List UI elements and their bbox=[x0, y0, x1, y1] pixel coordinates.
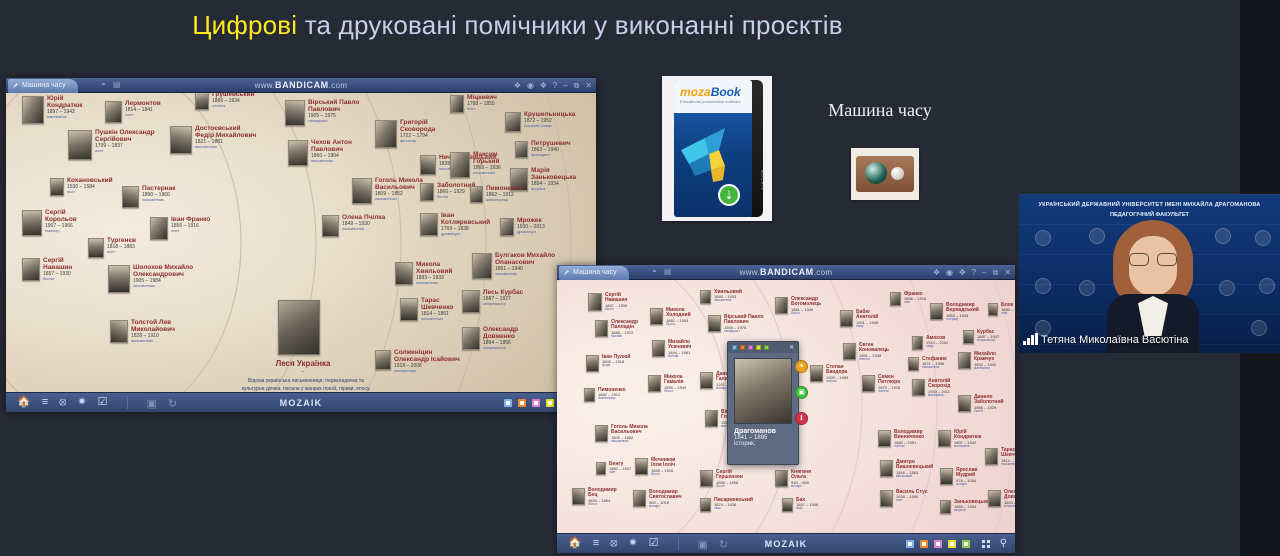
person-card[interactable]: Мрожек1930 – 2013драматург bbox=[500, 218, 545, 236]
person-occupation: поет bbox=[1001, 312, 1015, 315]
seal-icon bbox=[1219, 280, 1235, 296]
person-card[interactable]: СтепанБандера1909 – 1959політик bbox=[810, 365, 848, 383]
color-swatch[interactable] bbox=[962, 540, 970, 548]
person-occupation: хімік bbox=[796, 507, 818, 510]
close-icon[interactable]: ✕ bbox=[789, 345, 794, 351]
person-photo bbox=[985, 448, 998, 465]
camera-icon[interactable]: ◉ bbox=[527, 82, 534, 90]
person-photo bbox=[288, 140, 308, 166]
window2-titlebar[interactable]: Машина часу ◓ ▤ www.BANDICAM.com ❖ ◉ ✥ ?… bbox=[557, 265, 1015, 280]
mozabook-logo: mozaBook bbox=[680, 85, 741, 99]
person-name: ОлександрБогомолець bbox=[791, 297, 821, 308]
color-swatch[interactable] bbox=[518, 399, 526, 407]
time-machine-icon-knob bbox=[891, 167, 904, 180]
person-occupation: біолог bbox=[588, 503, 617, 506]
person-photo bbox=[912, 336, 923, 350]
image-icon[interactable]: ▣ bbox=[795, 386, 808, 399]
person-info: Кохановський1530 – 1584поет bbox=[67, 178, 113, 194]
person-occupation: математик bbox=[974, 367, 996, 370]
person-card[interactable]: СергійНавашин1857 – 1930біолог bbox=[22, 258, 72, 281]
person-info: ОлександрДовженко1894 – 1956кінорежисер bbox=[483, 327, 518, 350]
person-occupation: письменник bbox=[311, 159, 352, 163]
person-info: Вірський ПавлоПавлович1905 – 1975танцюри… bbox=[308, 100, 359, 123]
person-occupation: танцюрист bbox=[724, 330, 764, 333]
person-info: Франко1856 – 1916поет bbox=[904, 292, 926, 305]
person-card[interactable]: Хвильовий1893 – 1933письменник bbox=[700, 290, 742, 304]
person-info: Грушевський1866 – 1934політик bbox=[212, 93, 255, 108]
mozabook-box-image: mozaBook Educational presentation softwa… bbox=[662, 76, 772, 221]
person-occupation: актриса bbox=[954, 509, 989, 512]
person-info: СеменПетлюра1879 – 1926політик bbox=[878, 375, 900, 393]
window2-title-buttons[interactable]: ❖ ◉ ✥ ? – ⧉ ✕ bbox=[933, 265, 1011, 280]
person-card[interactable]: ГригорійСковорода1722 – 1794філософ bbox=[375, 120, 435, 148]
person-card[interactable]: Амосов1913 – 2002лікар bbox=[912, 336, 948, 350]
person-info: Іван Франко1856 – 1916поет bbox=[171, 217, 210, 233]
person-occupation: кінорежисер bbox=[1004, 505, 1015, 508]
person-name: ОлександрДовженко bbox=[1004, 490, 1015, 501]
minimize-icon[interactable]: – bbox=[982, 269, 986, 277]
pen-icon[interactable]: ✥ bbox=[540, 82, 547, 90]
person-photo bbox=[122, 186, 139, 208]
person-photo bbox=[170, 126, 192, 154]
person-photo bbox=[880, 490, 893, 507]
person-card[interactable]: ВолодимирВернадський1863 – 1945географ bbox=[930, 303, 979, 321]
person-card[interactable]: МиколаХолодний1882 – 1953біолог bbox=[650, 308, 691, 326]
color-swatch[interactable] bbox=[546, 399, 554, 407]
person-occupation: письменник bbox=[421, 317, 453, 321]
camera-icon[interactable]: ◉ bbox=[946, 269, 953, 277]
person-card[interactable]: Вірський ПавлоПавлович1905 – 1975танцюри… bbox=[708, 315, 764, 333]
person-photo bbox=[450, 152, 470, 178]
person-occupation: кінорежисер bbox=[483, 346, 518, 350]
person-occupation: актриса bbox=[531, 187, 576, 191]
person-card[interactable]: Петрушевич1863 – 1940президент bbox=[515, 141, 571, 158]
person-photo bbox=[708, 315, 721, 332]
selected-card-header[interactable]: ✕ bbox=[728, 342, 798, 353]
person-card[interactable]: ОлександрДовженко1894 – 1956кінорежисер bbox=[462, 327, 518, 350]
person-info: МихайлоКравчук1892 – 1942математик bbox=[974, 352, 996, 370]
person-photo bbox=[652, 340, 665, 357]
person-occupation: поет bbox=[904, 301, 926, 304]
person-occupation: оперний співак bbox=[524, 124, 575, 128]
person-name: ЮрійКондратюк bbox=[954, 430, 981, 441]
person-name: ІванКотляревський bbox=[441, 213, 490, 227]
person-photo bbox=[648, 375, 661, 392]
person-name: ЄвгенКоновалець bbox=[859, 343, 889, 354]
window2-toolbar-swatches[interactable]: ⚲ bbox=[906, 538, 1007, 549]
person-card[interactable]: Пушкін ОлександрСергійович1799 – 1837пое… bbox=[68, 130, 155, 160]
person-photo bbox=[586, 355, 599, 372]
person-info: Крушельницька1872 – 1952оперний співак bbox=[524, 112, 575, 128]
person-card[interactable]: Толстой ЛевМиколайович1828 – 1910письмен… bbox=[110, 320, 175, 343]
person-card[interactable]: Вірський ПавлоПавлович1905 – 1975танцюри… bbox=[285, 100, 359, 126]
person-photo bbox=[150, 217, 168, 240]
pen-icon[interactable]: ✥ bbox=[959, 269, 966, 277]
person-occupation: письменник bbox=[131, 339, 175, 343]
person-info: БабюАнатолій1901 – 1949лікар bbox=[856, 310, 878, 328]
person-info: МиколаХвильовий1893 – 1933письменник bbox=[416, 262, 452, 285]
person-card[interactable]: СергійКорольов1907 – 1966інженер bbox=[22, 210, 77, 236]
person-occupation: поет bbox=[67, 190, 113, 194]
person-card[interactable]: Курбас1887 – 1937кінорежисер bbox=[963, 330, 999, 344]
person-card[interactable]: Іван Франко1856 – 1916поет bbox=[150, 217, 210, 240]
person-photo bbox=[596, 462, 606, 475]
person-photo bbox=[700, 372, 713, 389]
person-card[interactable]: ОлександрБогомолець1881 – 1946біолог bbox=[775, 297, 821, 315]
info-icon[interactable]: ℹ bbox=[795, 412, 808, 425]
person-card[interactable]: Гоголь МиколаВасильович1809 – 1852письме… bbox=[352, 178, 423, 204]
color-swatch[interactable] bbox=[920, 540, 928, 548]
lesya-ukrainka-description: Відома українська письменниця, переклада… bbox=[236, 378, 376, 392]
person-name: ДостоєвськийФедір Михайлович bbox=[195, 126, 256, 140]
person-photo bbox=[782, 498, 793, 512]
person-name: Булгаков МихайлоОпанасович bbox=[495, 253, 555, 267]
person-photo bbox=[988, 303, 998, 316]
person-photo bbox=[810, 365, 823, 382]
person-info: Мрожек1930 – 2013драматург bbox=[517, 218, 545, 234]
person-card[interactable]: Пимоненко1862 – 1912живописець bbox=[470, 186, 522, 203]
person-photo bbox=[375, 350, 391, 370]
color-swatch[interactable] bbox=[906, 540, 914, 548]
person-photo bbox=[890, 292, 901, 306]
person-info: Пастернак1890 – 1960письменник bbox=[142, 186, 175, 202]
color-swatch[interactable] bbox=[748, 345, 753, 350]
person-photo bbox=[930, 303, 943, 320]
person-occupation: монарх bbox=[956, 483, 977, 486]
person-card[interactable]: Блок1880 – 1921поет bbox=[988, 303, 1015, 316]
person-card[interactable]: ІванКотляревський1769 – 1838драматург bbox=[420, 213, 490, 236]
person-name: Вірський ПавлоПавлович bbox=[724, 315, 764, 326]
person-card[interactable]: АнатолійСкорохід1930 – 2011математик bbox=[912, 379, 950, 397]
person-info: Хвильовий1893 – 1933письменник bbox=[714, 290, 742, 303]
person-name: СергійКорольов bbox=[45, 210, 77, 224]
color-swatch[interactable] bbox=[934, 540, 942, 548]
person-card[interactable]: ЄвгенКоновалець1891 – 1938політик bbox=[843, 343, 889, 361]
time-machine-icon-lens bbox=[865, 162, 887, 184]
person-info: МечниковІлля Ілліч1845 – 1916біолог bbox=[651, 458, 675, 476]
person-card[interactable]: Міцкевич1798 – 1855поет bbox=[450, 95, 497, 113]
person-info: МихайлоУсачович1894 – 1981вчений bbox=[668, 340, 691, 358]
person-photo bbox=[352, 178, 372, 204]
person-card[interactable]: СолженіцинОлександр Ісайович1918 – 2008п… bbox=[375, 350, 460, 373]
person-photo bbox=[705, 410, 718, 427]
person-info: Блок1880 – 1921поет bbox=[1001, 303, 1015, 316]
color-swatch[interactable] bbox=[532, 399, 540, 407]
person-occupation: біолог bbox=[651, 473, 675, 476]
person-info: Пушкін ОлександрСергійович1799 – 1837пое… bbox=[95, 130, 155, 153]
seal-icon bbox=[1251, 320, 1267, 336]
person-name: АнатолійСкорохід bbox=[928, 379, 950, 390]
person-name: МечниковІлля Ілліч bbox=[651, 458, 675, 469]
window1-title-buttons[interactable]: ❖ ◉ ✥ ? – ⧉ ✕ bbox=[514, 78, 592, 93]
page-title: Цифрові та друковані помічники у виконан… bbox=[0, 4, 1035, 46]
person-name: СолженіцинОлександр Ісайович bbox=[394, 350, 460, 364]
window1-titlebar[interactable]: Машина часу ◓ ▤ www.BANDICAM.com ❖ ◉ ✥ ?… bbox=[6, 78, 596, 93]
person-card[interactable]: ОлександрДовженко1894 – 1956кінорежисер bbox=[988, 490, 1015, 508]
color-swatch[interactable] bbox=[740, 345, 745, 350]
person-card[interactable]: Бенгу1882 – 1937поет bbox=[596, 462, 631, 475]
restore-icon[interactable]: ⧉ bbox=[993, 269, 999, 277]
seal-icon bbox=[1035, 278, 1051, 294]
seal-icon bbox=[1089, 228, 1105, 244]
help-icon[interactable]: ? bbox=[553, 82, 557, 90]
person-name: МихайлоКравчук bbox=[974, 352, 996, 363]
window2-toolbar[interactable]: 🏠 ≡ ⦻ ✷ ☑ ▣ ↻ MOZAIK ⚲ bbox=[557, 533, 1015, 553]
person-name: ЮрійКондратюк bbox=[47, 96, 83, 110]
person-card[interactable]: ЯрославМудрий978 – 1054монарх bbox=[940, 468, 977, 486]
time-machine-window-1[interactable]: Машина часу ◓ ▤ www.BANDICAM.com ❖ ◉ ✥ ?… bbox=[6, 78, 596, 412]
person-info: Петрушевич1863 – 1940президент bbox=[531, 141, 571, 157]
person-name: ОлександрДовженко bbox=[483, 327, 518, 341]
person-photo bbox=[572, 488, 585, 505]
person-info: СтепанБандера1909 – 1959політик bbox=[826, 365, 848, 383]
title-highlight: Цифрові bbox=[192, 10, 297, 40]
restore-icon[interactable]: ⧉ bbox=[574, 82, 580, 90]
person-photo bbox=[420, 155, 436, 175]
person-info: ВолодимирВернадський1863 – 1945географ bbox=[946, 303, 979, 321]
person-occupation: письменник bbox=[1001, 463, 1015, 466]
person-card[interactable]: ОлександрПалладін1885 – 1972біохімік bbox=[595, 320, 638, 338]
participant-face bbox=[1129, 236, 1177, 296]
person-card[interactable]: ТарасШевченко1814 – 1861письменник bbox=[985, 448, 1015, 466]
person-card[interactable]: МиколаХвильовий1893 – 1933письменник bbox=[395, 262, 452, 285]
person-info: Тургенєв1818 – 1883поет bbox=[107, 238, 136, 254]
person-photo bbox=[963, 330, 974, 344]
person-occupation: живописець bbox=[486, 198, 522, 202]
person-name: Шолохов МихайлоОлександрович bbox=[133, 265, 193, 279]
person-occupation: математик bbox=[954, 445, 981, 448]
person-info: ТарасШевченко1814 – 1861письменник bbox=[421, 298, 453, 321]
selected-person-photo bbox=[734, 358, 792, 424]
person-card[interactable]: ДостоєвськийФедір Михайлович1821 – 1881п… bbox=[170, 126, 256, 154]
person-card[interactable]: Грушевський1866 – 1934політик bbox=[195, 93, 255, 110]
window1-canvas[interactable]: ЮрійКондратюк1897 – 1942математикЛермонт… bbox=[6, 93, 596, 392]
close-icon[interactable]: ✕ bbox=[585, 82, 592, 90]
color-swatch[interactable] bbox=[764, 345, 769, 350]
person-card[interactable]: Іван Пулюй1845 – 1918фізик bbox=[586, 355, 630, 372]
person-name: ДмитроВишневецький bbox=[896, 460, 933, 471]
palette-icon[interactable]: ☀ bbox=[795, 360, 808, 373]
share-icon[interactable]: ❖ bbox=[514, 82, 521, 90]
person-card[interactable]: Лермонтов1814 – 1841поет bbox=[105, 101, 161, 123]
person-occupation: живописець bbox=[598, 397, 626, 400]
person-photo bbox=[878, 430, 891, 447]
person-info: ІванКотляревський1769 – 1838драматург bbox=[441, 213, 490, 236]
color-swatch[interactable] bbox=[948, 540, 956, 548]
person-card[interactable]: ЮрійКондратюк1897 – 1942математик bbox=[938, 430, 981, 448]
person-name: МаріяЗаньковецька bbox=[531, 168, 576, 182]
person-occupation: кінорежисер bbox=[483, 302, 523, 306]
grid-icon[interactable] bbox=[982, 540, 990, 548]
person-photo bbox=[472, 253, 492, 279]
person-occupation: біолог bbox=[43, 277, 72, 281]
person-photo bbox=[775, 297, 788, 314]
person-card[interactable]: МаксимГорький1868 – 1936письменник bbox=[450, 152, 501, 178]
person-photo bbox=[50, 178, 64, 196]
person-occupation: математик bbox=[928, 394, 950, 397]
person-card[interactable]: ТарасШевченко1814 – 1861письменник bbox=[400, 298, 453, 321]
share-icon[interactable]: ❖ bbox=[933, 269, 940, 277]
person-card[interactable]: ДмитроВишневецький1516 – 1563військовий bbox=[880, 460, 933, 478]
person-occupation: географ bbox=[946, 318, 979, 321]
person-card[interactable]: Василь Стус1938 – 1985поет bbox=[880, 490, 928, 507]
person-photo bbox=[500, 218, 514, 236]
person-occupation: лікар bbox=[856, 325, 878, 328]
selected-person-name: Драгоманов bbox=[734, 428, 798, 435]
person-info: Міцкевич1798 – 1855поет bbox=[467, 95, 497, 111]
search-icon[interactable]: ⚲ bbox=[1000, 538, 1007, 549]
person-photo bbox=[958, 352, 971, 369]
person-info: Амосов1913 – 2002лікар bbox=[926, 336, 948, 349]
person-info: Булгаков МихайлоОпанасович1891 – 1940пис… bbox=[495, 253, 555, 276]
person-photo bbox=[588, 293, 602, 311]
person-occupation: письменник bbox=[922, 366, 947, 369]
person-card[interactable]: СергійГершензон1906 – 1998біолог bbox=[700, 470, 743, 488]
person-photo bbox=[862, 375, 875, 392]
person-occupation: письменник bbox=[133, 284, 193, 288]
video-participant-tile[interactable]: УКРАЇНСЬКИЙ ДЕРЖАВНИЙ УНІВЕРСИТЕТ ІМЕНІ … bbox=[1019, 194, 1280, 353]
person-photo bbox=[105, 101, 122, 123]
person-card[interactable]: Шолохов МихайлоОлександрович1905 – 1984п… bbox=[108, 265, 193, 293]
person-info: ЄвгенКоновалець1891 – 1938політик bbox=[859, 343, 889, 361]
person-card[interactable]: Франко1856 – 1916поет bbox=[890, 292, 926, 306]
person-photo bbox=[988, 490, 1001, 507]
close-icon[interactable]: ✕ bbox=[1004, 269, 1011, 277]
person-card[interactable]: Пастернак1890 – 1960письменник bbox=[122, 186, 175, 208]
person-photo bbox=[840, 310, 853, 327]
person-info: Шолохов МихайлоОлександрович1905 – 1984п… bbox=[133, 265, 193, 288]
person-card[interactable]: Булгаков МихайлоОпанасович1891 – 1940пис… bbox=[472, 253, 555, 279]
person-card[interactable]: МечниковІлля Ілліч1845 – 1916біолог bbox=[635, 458, 675, 476]
person-card[interactable]: Заньковецька1854 – 1934актриса bbox=[940, 500, 989, 514]
person-info: КнягиняОльга910 – 969монарх bbox=[791, 470, 811, 488]
person-photo bbox=[700, 470, 713, 487]
person-card[interactable]: Чехов АнтонПавлович1860 – 1904письменник bbox=[288, 140, 352, 166]
person-photo bbox=[285, 100, 305, 126]
person-card[interactable]: МихайлоКравчук1892 – 1942математик bbox=[958, 352, 996, 370]
person-info: СергійГершензон1906 – 1998біолог bbox=[716, 470, 743, 488]
person-name: ВолодимирВинниченко bbox=[894, 430, 924, 441]
person-name: СергійГершензон bbox=[716, 470, 743, 481]
mozabook-cover: mozaBook Educational presentation softwa… bbox=[674, 80, 752, 217]
person-card[interactable]: Крушельницька1872 – 1952оперний співак bbox=[505, 112, 575, 132]
person-photo bbox=[775, 470, 788, 487]
person-card[interactable]: ВолодимирВинниченко1880 – 1951політик bbox=[878, 430, 924, 448]
person-info: СергійНавашин1857 – 1930біолог bbox=[43, 258, 72, 281]
person-occupation: політик bbox=[878, 390, 900, 393]
person-name: МаксимГорький bbox=[473, 152, 501, 166]
selected-person-occupation: історик, bbox=[734, 441, 798, 447]
person-occupation: письменник bbox=[342, 227, 385, 231]
person-info: Іван Пулюй1845 – 1918фізик bbox=[602, 355, 630, 368]
person-info: ТарасШевченко1814 – 1861письменник bbox=[1001, 448, 1015, 466]
person-card[interactable]: ВолодимирБец1834 – 1894біолог bbox=[572, 488, 617, 506]
origami-bird-icon bbox=[679, 120, 745, 184]
person-info: Писаржевський1874 – 1938хімік bbox=[714, 498, 753, 511]
person-occupation: біолог bbox=[791, 312, 821, 315]
person-card[interactable]: Гоголь МиколаВасильович1809 – 1852письме… bbox=[595, 425, 648, 443]
person-occupation: письменник bbox=[195, 145, 256, 149]
person-card[interactable]: Пимоненко1862 – 1912живописець bbox=[584, 388, 626, 402]
person-info: Вірський ПавлоПавлович1905 – 1975танцюри… bbox=[724, 315, 764, 333]
person-card[interactable]: Писаржевський1874 – 1938хімік bbox=[700, 498, 753, 512]
person-card[interactable]: МиколаГамалія1859 – 1949біолог bbox=[648, 375, 686, 393]
person-info: Заньковецька1854 – 1934актриса bbox=[954, 500, 989, 513]
person-card[interactable]: МихайлоУсачович1894 – 1981вчений bbox=[652, 340, 691, 358]
selected-person-card[interactable]: ✕ Драгоманов 1841 – 1895 історик, ☀ ▣ ℹ bbox=[727, 341, 799, 465]
person-card[interactable]: Олена Пчілка1849 – 1930письменник bbox=[322, 215, 385, 237]
person-occupation: письменник bbox=[473, 171, 501, 175]
person-photo bbox=[938, 430, 951, 447]
person-info: СолженіцинОлександр Ісайович1918 – 2008п… bbox=[394, 350, 460, 373]
person-card[interactable]: КнягиняОльга910 – 969монарх bbox=[775, 470, 811, 488]
person-card[interactable]: СеменПетлюра1879 – 1926політик bbox=[862, 375, 900, 393]
person-card[interactable]: Тургенєв1818 – 1883поет bbox=[88, 238, 136, 258]
person-photo bbox=[395, 262, 413, 285]
person-name: БабюАнатолій bbox=[856, 310, 878, 321]
person-photo bbox=[505, 112, 521, 132]
person-info: ДостоєвськийФедір Михайлович1821 – 1881п… bbox=[195, 126, 256, 149]
lesya-ukrainka-dash: - bbox=[244, 369, 362, 375]
person-occupation: політик bbox=[859, 358, 889, 361]
person-info: Гоголь МиколаВасильович1809 – 1852письме… bbox=[375, 178, 423, 201]
person-photo bbox=[470, 186, 483, 203]
person-card[interactable]: БабюАнатолій1901 – 1949лікар bbox=[840, 310, 878, 328]
person-info: Толстой ЛевМиколайович1828 – 1910письмен… bbox=[131, 320, 175, 343]
person-photo bbox=[322, 215, 339, 237]
person-card[interactable]: ДанилоЗаболотний1866 – 1929біолог bbox=[958, 395, 1004, 413]
person-info: ОлександрДовженко1894 – 1956кінорежисер bbox=[1004, 490, 1015, 508]
color-swatch[interactable] bbox=[732, 345, 737, 350]
person-photo bbox=[22, 210, 42, 236]
lesya-ukrainka-photo[interactable] bbox=[278, 300, 320, 355]
help-icon[interactable]: ? bbox=[972, 269, 976, 277]
person-card[interactable]: ВолодимирСвятославич960 – 1015монарх bbox=[633, 490, 682, 508]
color-swatch[interactable] bbox=[504, 399, 512, 407]
person-photo bbox=[68, 130, 92, 160]
person-card[interactable]: Стефаник1871 – 1936письменник bbox=[908, 357, 947, 371]
person-card[interactable]: Лесь Курбас1887 – 1927кінорежисер bbox=[462, 290, 523, 313]
person-photo bbox=[515, 141, 528, 158]
person-photo bbox=[110, 320, 128, 343]
person-info: ЯрославМудрий978 – 1054монарх bbox=[956, 468, 977, 486]
person-name: СеменПетлюра bbox=[878, 375, 900, 386]
person-card[interactable]: СергійНавашин1857 – 1930біолог bbox=[588, 293, 627, 311]
person-name: Толстой ЛевМиколайович bbox=[131, 320, 175, 334]
person-occupation: письменник bbox=[714, 299, 742, 302]
person-card[interactable]: Заболотний1866 – 1929біолог bbox=[420, 183, 475, 201]
participant-name: Тетяна Миколаївна Васютіна bbox=[1041, 334, 1189, 346]
person-photo bbox=[940, 500, 951, 514]
person-card[interactable]: Кохановський1530 – 1584поет bbox=[50, 178, 113, 196]
minimize-icon[interactable]: – bbox=[563, 82, 567, 90]
person-occupation: військовий bbox=[896, 475, 933, 478]
person-info: Гоголь МиколаВасильович1809 – 1852письме… bbox=[611, 425, 648, 443]
person-occupation: письменник bbox=[394, 369, 460, 373]
person-name: ВолодимирВернадський bbox=[946, 303, 979, 314]
person-info: ДмитроВишневецький1516 – 1563військовий bbox=[896, 460, 933, 478]
person-photo bbox=[420, 213, 438, 236]
seal-icon bbox=[1035, 230, 1051, 246]
person-occupation: письменник bbox=[495, 272, 555, 276]
person-info: ВолодимирСвятославич960 – 1015монарх bbox=[649, 490, 682, 508]
person-photo bbox=[635, 458, 648, 475]
color-swatch[interactable] bbox=[756, 345, 761, 350]
window1-toolbar[interactable]: 🏠 ≡ ⦻ ✷ ☑ ▣ ↻ MOZAIK bbox=[6, 392, 596, 412]
person-occupation: вчений bbox=[668, 355, 691, 358]
person-card[interactable]: Бах1857 – 1946хімік bbox=[782, 498, 818, 512]
person-card[interactable]: ЮрійКондратюк1897 – 1942математик bbox=[22, 96, 83, 124]
